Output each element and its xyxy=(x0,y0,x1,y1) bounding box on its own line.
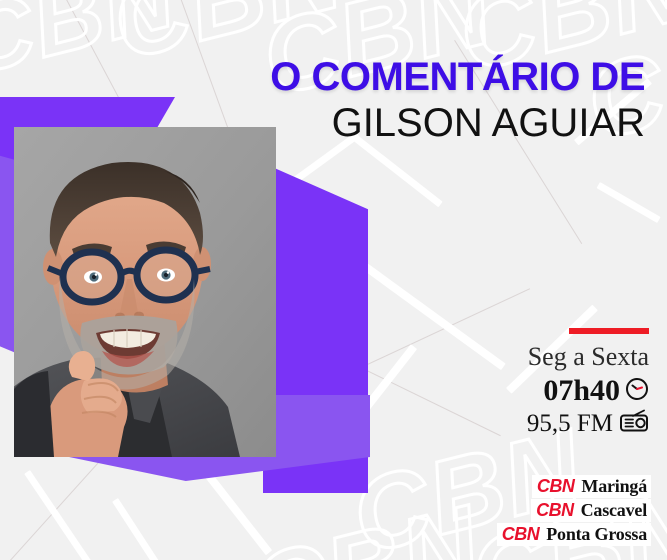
schedule-days: Seg a Sexta xyxy=(527,343,649,372)
schedule-frequency-row: 95,5 FM xyxy=(527,409,649,438)
cbn-wordmark: CBN xyxy=(537,476,575,497)
accent-stroke xyxy=(112,498,189,560)
station-city: Maringá xyxy=(581,476,647,497)
station-logo-list: CBN Maringá CBN Cascavel CBN Ponta Gross… xyxy=(497,475,651,546)
accent-rule xyxy=(569,328,649,334)
radio-icon xyxy=(619,409,649,438)
cube-composition xyxy=(0,105,400,465)
schedule-frequency: 95,5 FM xyxy=(527,410,613,438)
watermark-cbn: CBN xyxy=(241,490,491,560)
accent-stroke xyxy=(597,182,661,223)
station-city: Ponta Grossa xyxy=(546,524,647,545)
portrait-photo xyxy=(14,127,276,457)
watermark-cbn: CBN xyxy=(0,0,184,90)
schedule-time: 07h40 xyxy=(543,374,620,408)
title-line-1: O COMENTÁRIO DE xyxy=(270,58,645,97)
cbn-wordmark: CBN xyxy=(502,524,540,545)
station-city: Cascavel xyxy=(581,500,647,521)
cbn-wordmark: CBN xyxy=(536,500,574,521)
schedule-time-row: 07h40 xyxy=(527,374,649,408)
schedule-block: Seg a Sexta 07h40 95,5 FM xyxy=(527,328,649,438)
accent-stroke xyxy=(24,470,114,560)
station-logo-ponta-grossa: CBN Ponta Grossa xyxy=(497,523,651,546)
title-line-2: GILSON AGUIAR xyxy=(270,101,645,146)
page-title: O COMENTÁRIO DE GILSON AGUIAR xyxy=(270,58,645,146)
promo-card: CBNCBNCBNCBNCBNCBNCBNCBN xyxy=(0,0,667,560)
station-logo-maringa: CBN Maringá xyxy=(532,475,651,498)
clock-icon xyxy=(625,377,649,406)
station-logo-cascavel: CBN Cascavel xyxy=(531,499,651,522)
